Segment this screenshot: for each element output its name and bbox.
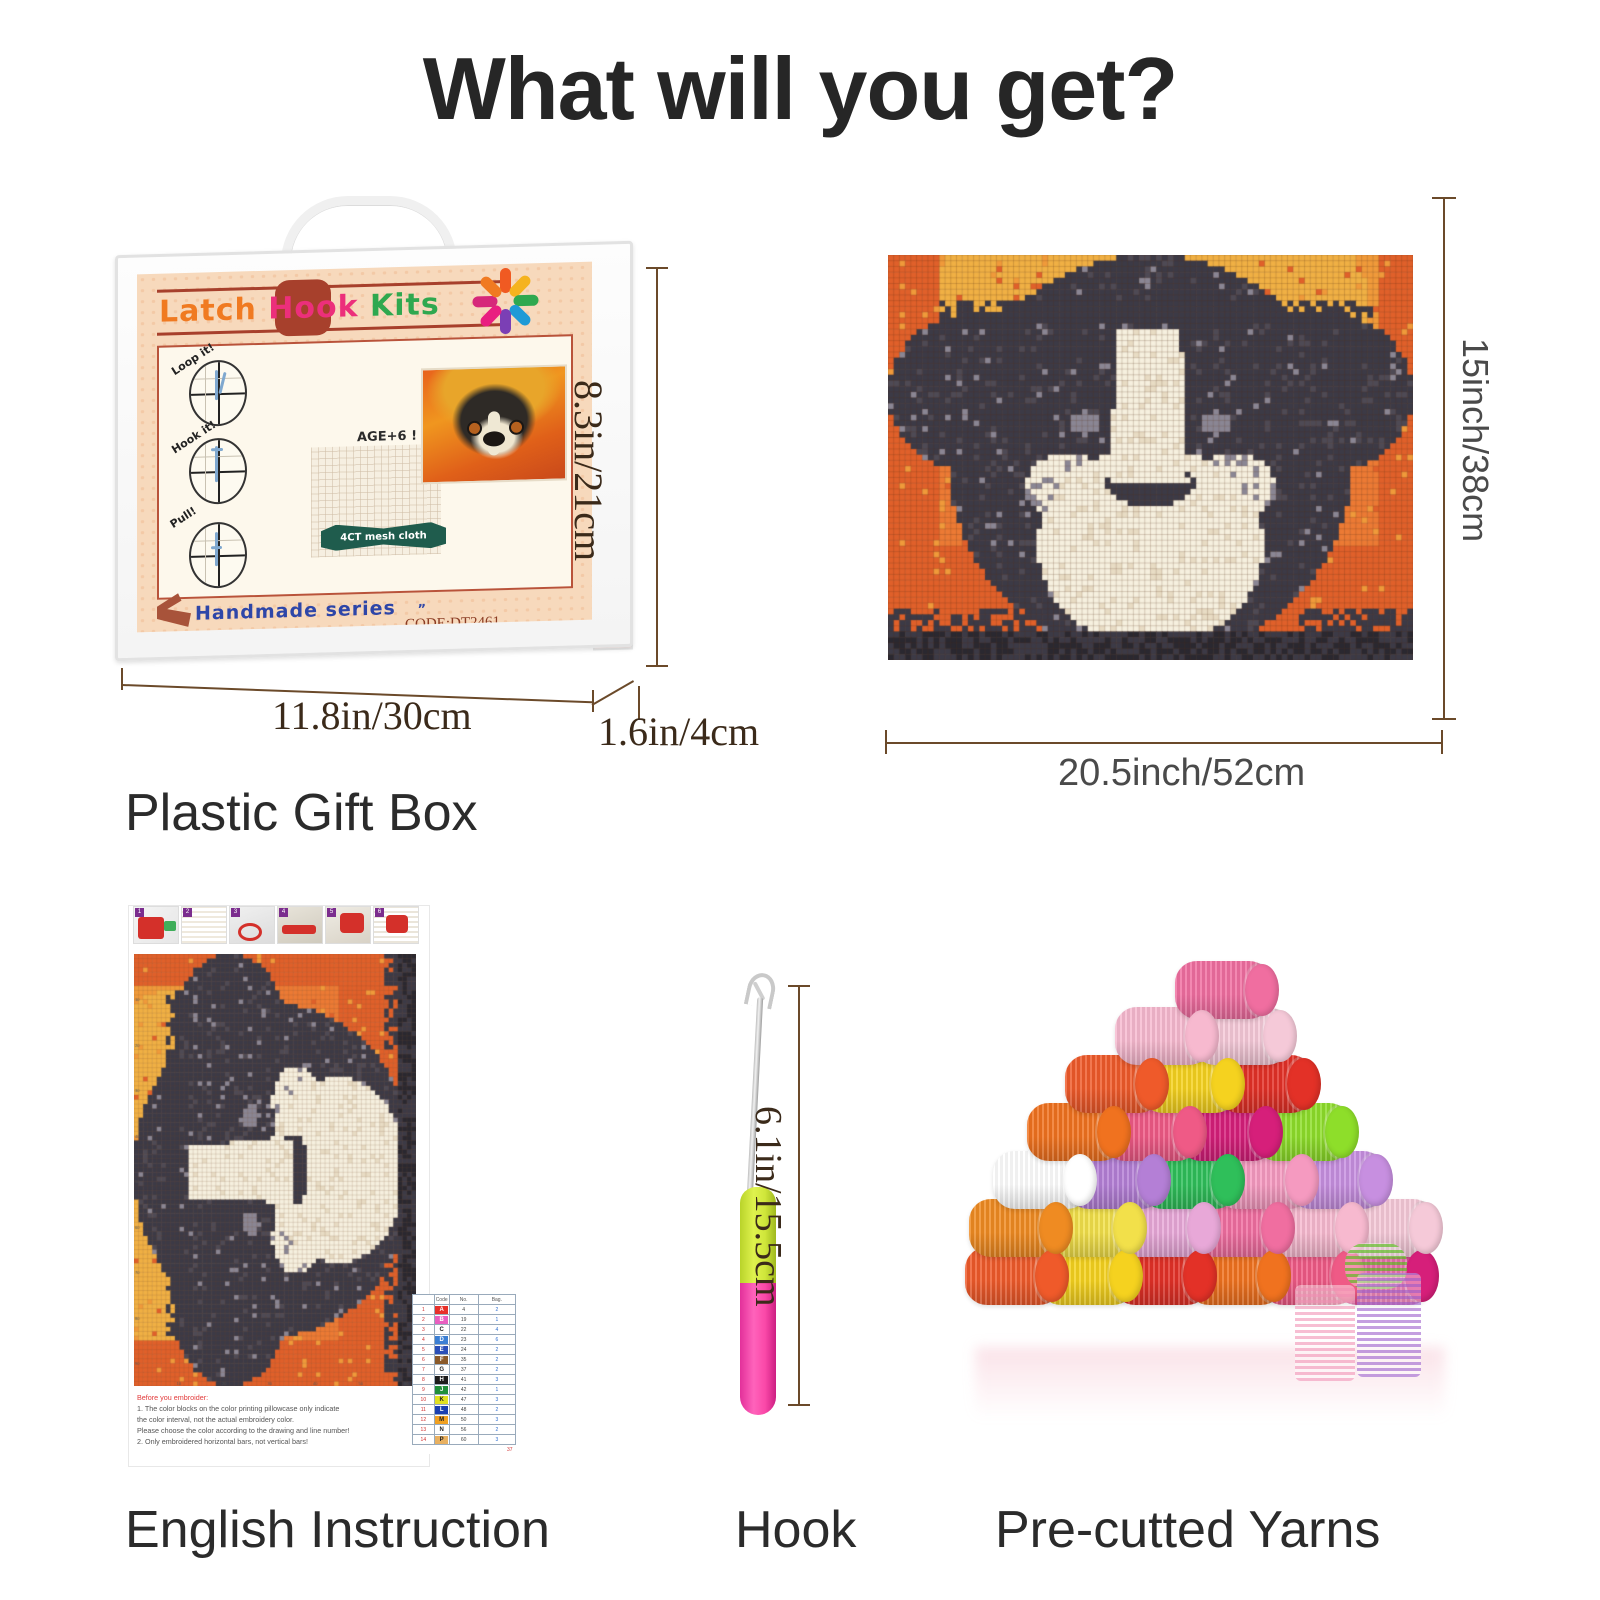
- yarn-bundle-end: [1173, 1106, 1207, 1158]
- yarn-bundle-end: [1325, 1106, 1359, 1158]
- instruction-thumbnail-strip: 1 2 3 4 5 6: [131, 906, 431, 948]
- legend-code: J: [434, 1385, 449, 1395]
- yarn-bundle-end: [1039, 1202, 1073, 1254]
- legend-no: 22: [449, 1325, 478, 1335]
- legend-row: 1A42: [413, 1305, 516, 1315]
- legend-code: H: [434, 1375, 449, 1385]
- color-legend-table: Code No. Bag. 1A422B1913C2244D2365E2426F…: [412, 1294, 516, 1454]
- legend-code: N: [434, 1425, 449, 1435]
- thumbnail-step: 1: [133, 906, 179, 944]
- hook-length-tick-top: [788, 985, 810, 987]
- legend-bag: 2: [478, 1365, 515, 1375]
- legend-header-no: No.: [449, 1295, 478, 1305]
- yarn-net-bundle: [1357, 1273, 1421, 1377]
- legend-no: 47: [449, 1395, 478, 1405]
- legend-code: B: [434, 1315, 449, 1325]
- legend-code: P: [434, 1435, 449, 1445]
- series-mark: ”: [417, 602, 427, 617]
- legend-bag: 6: [478, 1335, 515, 1345]
- legend-row: 10K473: [413, 1395, 516, 1405]
- legend-header-bag: Bag.: [478, 1295, 515, 1305]
- caption-hook: Hook: [735, 1500, 856, 1560]
- legend-code: D: [434, 1335, 449, 1345]
- yarn-bundle-end: [1135, 1058, 1169, 1110]
- legend-bag: 1: [478, 1385, 515, 1395]
- legend-no: 4: [449, 1305, 478, 1315]
- legend-code: A: [434, 1305, 449, 1315]
- legend-bag: 1: [478, 1315, 515, 1325]
- legend-no: 35: [449, 1355, 478, 1365]
- yarn-bundle-end: [1263, 1010, 1297, 1062]
- product-infographic: What will you get? Latch Hook Kits: [0, 0, 1600, 1600]
- yarn-bundle-end: [1035, 1250, 1069, 1302]
- legend-bag: 2: [478, 1405, 515, 1415]
- legend-index: 12: [413, 1415, 435, 1425]
- legend-bag: 3: [478, 1395, 515, 1405]
- box-depth-dimension-label: 1.6in/4cm: [598, 708, 759, 755]
- box-width-tick-left: [121, 668, 123, 690]
- legend-index: 14: [413, 1435, 435, 1445]
- yarn-bundle-end: [1257, 1250, 1291, 1302]
- legend-row: 13N562: [413, 1425, 516, 1435]
- legend-row: 11L482: [413, 1405, 516, 1415]
- canvas-height-dimension-label: 15inch/38cm: [1454, 338, 1496, 542]
- thumbnail-step: 3: [229, 906, 275, 944]
- legend-index: 11: [413, 1405, 435, 1415]
- brand-bar: Latch Hook Kits: [157, 278, 502, 336]
- legend-no: 50: [449, 1415, 478, 1425]
- thumbnail-number: 4: [279, 908, 288, 917]
- pre-cutted-yarns-illustration: [965, 955, 1465, 1425]
- legend-row: 4D236: [413, 1335, 516, 1345]
- legend-bag: 4: [478, 1325, 515, 1335]
- yarn-bundle-end: [1245, 964, 1279, 1016]
- canvas-width-dimension-line: [886, 742, 1442, 744]
- finished-rug-photo: [421, 364, 567, 484]
- brand-word-hook: Hook: [268, 289, 358, 327]
- rug-dog-eye-left: [467, 420, 482, 435]
- legend-code: M: [434, 1415, 449, 1425]
- box-width-tick-right: [592, 690, 594, 712]
- legend-no: 23: [449, 1335, 478, 1345]
- step-circle-pull: [189, 521, 247, 589]
- legend-index: 10: [413, 1395, 435, 1405]
- legend-index: 2: [413, 1315, 435, 1325]
- box-height-tick-bottom: [646, 665, 668, 667]
- box-width-dimension-label: 11.8in/30cm: [272, 692, 472, 739]
- yarn-bundle-end: [1211, 1154, 1245, 1206]
- step-label-pull: Pull!: [168, 504, 199, 531]
- series-label-text: Handmade series: [195, 597, 396, 625]
- legend-no: 24: [449, 1345, 478, 1355]
- legend-row: 12M503: [413, 1415, 516, 1425]
- legend-code: G: [434, 1365, 449, 1375]
- brand-word-kits: Kits: [370, 287, 440, 324]
- mesh-canvas-image: [888, 255, 1413, 660]
- legend-bag: 2: [478, 1355, 515, 1365]
- caption-yarns: Pre-cutted Yarns: [995, 1500, 1380, 1560]
- legend-row: 5E242: [413, 1345, 516, 1355]
- legend-index: 6: [413, 1355, 435, 1365]
- legend-header-row: Code No. Bag.: [413, 1295, 516, 1305]
- legend-index: 7: [413, 1365, 435, 1375]
- legend-row: 9J421: [413, 1385, 516, 1395]
- canvas-width-tick-right: [1441, 730, 1443, 754]
- box-height-dimension-label: 8.3in/21cm: [565, 380, 612, 561]
- legend-code: C: [434, 1325, 449, 1335]
- yarn-bundle-end: [1185, 1010, 1219, 1062]
- yarn-bundle-end: [1285, 1154, 1319, 1206]
- legend-code: K: [434, 1395, 449, 1405]
- thumbnail-number: 5: [327, 908, 336, 917]
- legend-total-row: 37: [413, 1445, 516, 1455]
- thumbnail-number: 6: [375, 908, 384, 917]
- box-height-tick-top: [646, 267, 668, 269]
- legend-no: 48: [449, 1405, 478, 1415]
- step-circle-hook: [189, 437, 247, 505]
- legend-code: E: [434, 1345, 449, 1355]
- yarn-bundle-end: [1183, 1250, 1217, 1302]
- legend-bag: 3: [478, 1415, 515, 1425]
- rug-dog-nose: [483, 431, 505, 447]
- legend-no: 42: [449, 1385, 478, 1395]
- canvas-width-tick-left: [885, 730, 887, 754]
- page-title: What will you get?: [0, 38, 1600, 140]
- rug-dog-eye-right: [509, 419, 524, 434]
- yarn-bundle-end: [1287, 1058, 1321, 1110]
- legend-row: 3C224: [413, 1325, 516, 1335]
- legend-index: 4: [413, 1335, 435, 1345]
- legend-no: 60: [449, 1435, 478, 1445]
- legend-index: 8: [413, 1375, 435, 1385]
- yarn-bundle-end: [1063, 1154, 1097, 1206]
- legend-index: 13: [413, 1425, 435, 1435]
- thumbnail-number: 3: [231, 908, 240, 917]
- legend-bag: 3: [478, 1375, 515, 1385]
- legend-header-index: [413, 1295, 435, 1305]
- legend-no: 41: [449, 1375, 478, 1385]
- step-circle-loop: [189, 359, 247, 427]
- printed-canvas-illustration: [888, 255, 1413, 660]
- legend-no: 56: [449, 1425, 478, 1435]
- box-instruction-panel: Loop it! Hook it!: [157, 334, 573, 600]
- caption-instruction: English Instruction: [125, 1500, 550, 1560]
- canvas-height-tick-bottom: [1432, 718, 1456, 720]
- yarn-bundle-end: [1249, 1106, 1283, 1158]
- legend-index: 5: [413, 1345, 435, 1355]
- box-depth-dimension-line: [592, 680, 635, 706]
- yarn-bundle-end: [1211, 1058, 1245, 1110]
- instruction-chart-image: [134, 954, 416, 1386]
- hook-length-dimension-line: [798, 986, 800, 1406]
- legend-bag: 3: [478, 1435, 515, 1445]
- thumbnail-step: 5: [325, 906, 371, 944]
- yarn-bundle-end: [1137, 1154, 1171, 1206]
- hook-length-tick-bottom: [788, 1404, 810, 1406]
- notice-line-3: Please choose the color according to the…: [137, 1425, 415, 1436]
- yarn-bundle-end: [1409, 1202, 1443, 1254]
- canvas-width-dimension-label: 20.5inch/52cm: [1058, 752, 1305, 795]
- legend-row: 8H413: [413, 1375, 516, 1385]
- legend-header-code: Code: [434, 1295, 449, 1305]
- english-instruction-sheet: 1 2 3 4 5 6: [128, 905, 430, 1467]
- notice-heading: Before you embroider:: [137, 1392, 415, 1403]
- legend-bag: 2: [478, 1425, 515, 1435]
- notice-line-2: the color interval, not the actual embro…: [137, 1414, 415, 1425]
- legend-row: 6F352: [413, 1355, 516, 1365]
- legend-code: L: [434, 1405, 449, 1415]
- brand-word-latch: Latch: [159, 292, 257, 330]
- legend-index: 1: [413, 1305, 435, 1315]
- notice-line-4: 2. Only embroidered horizontal bars, not…: [137, 1436, 415, 1447]
- yarn-bundle-end: [1113, 1202, 1147, 1254]
- legend-total: 37: [413, 1445, 516, 1455]
- yarn-bundle-end: [1187, 1202, 1221, 1254]
- yarn-bundle-end: [1097, 1106, 1131, 1158]
- yarn-bundle-end: [1109, 1250, 1143, 1302]
- legend-row: 2B191: [413, 1315, 516, 1325]
- legend-no: 19: [449, 1315, 478, 1325]
- thumbnail-number: 2: [183, 908, 192, 917]
- legend-code: F: [434, 1355, 449, 1365]
- caption-gift-box: Plastic Gift Box: [125, 783, 478, 843]
- legend-row: 14P603: [413, 1435, 516, 1445]
- thumbnail-step: 6: [373, 906, 419, 944]
- age-label: AGE+6 !: [357, 429, 417, 446]
- thumbnail-number: 1: [135, 908, 144, 917]
- canvas-height-tick-top: [1432, 197, 1456, 199]
- notice-line-1: 1. The color blocks on the color printin…: [137, 1403, 415, 1414]
- yarn-bundle-end: [1261, 1202, 1295, 1254]
- yarn-net-bundle: [1295, 1285, 1355, 1381]
- before-you-embroider-notice: Before you embroider: 1. The color block…: [137, 1392, 415, 1447]
- legend-bag: 2: [478, 1305, 515, 1315]
- yarn-bundle-end: [1359, 1154, 1393, 1206]
- box-front-artwork: Latch Hook Kits Loop it!: [137, 262, 592, 633]
- thumbnail-step: 2: [181, 906, 227, 944]
- box-height-dimension-line: [656, 268, 658, 666]
- legend-bag: 2: [478, 1345, 515, 1355]
- canvas-height-dimension-line: [1443, 198, 1445, 720]
- hook-length-dimension-label: 6.1in/15.5cm: [746, 1106, 790, 1307]
- thumbnail-step: 4: [277, 906, 323, 944]
- series-label: Handmade series ”: [195, 596, 427, 624]
- legend-index: 9: [413, 1385, 435, 1395]
- legend-no: 37: [449, 1365, 478, 1375]
- legend-row: 7G372: [413, 1365, 516, 1375]
- brand-title: Latch Hook Kits: [159, 285, 504, 330]
- legend-index: 3: [413, 1325, 435, 1335]
